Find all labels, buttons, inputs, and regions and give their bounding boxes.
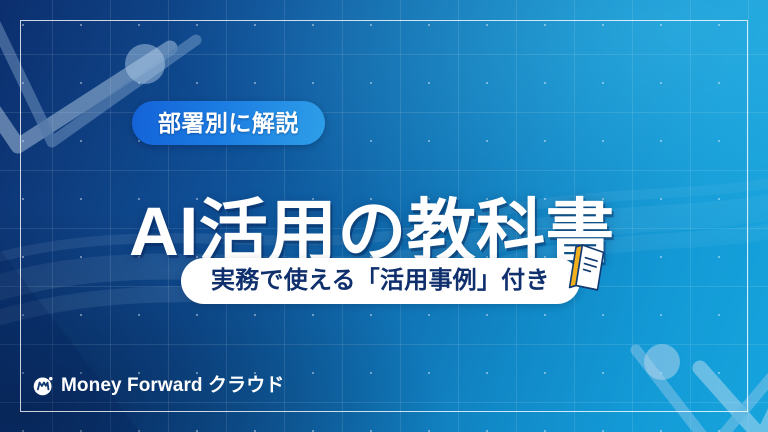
money-forward-logo-text: Money Forward クラウド xyxy=(61,376,284,395)
book-icon xyxy=(566,243,608,291)
banner-content: 部署別に解説 AI活用の教科書 実務で使える「活用事例」付き xyxy=(0,0,768,432)
eyebrow-badge-label: 部署別に解説 xyxy=(158,112,299,135)
eyebrow-badge: 部署別に解説 xyxy=(132,101,325,145)
money-forward-logo: Money Forward クラウド xyxy=(33,375,284,396)
subtitle-pill: 実務で使える「活用事例」付き xyxy=(181,258,580,304)
money-forward-logo-mark xyxy=(33,375,54,396)
subtitle-pill-label: 実務で使える「活用事例」付き xyxy=(211,269,550,293)
promo-banner: 部署別に解説 AI活用の教科書 実務で使える「活用事例」付き xyxy=(0,0,768,432)
